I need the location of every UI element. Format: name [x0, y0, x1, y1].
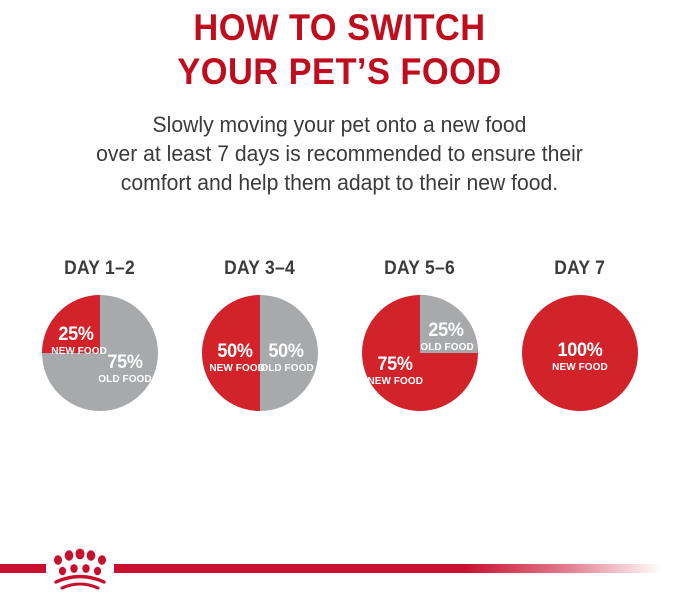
- pie-graphic-3: 25% OLD FOOD 75% NEW FOOD: [362, 295, 478, 411]
- intro-line-2: over at least 7 days is recommended to e…: [20, 139, 658, 168]
- pie-svg-3: [362, 295, 478, 411]
- pie-slice-new-food: [42, 295, 100, 353]
- footer-rule-right: [114, 564, 679, 573]
- royal-canin-crown-icon: [46, 546, 114, 590]
- pie-graphic-4: 100% NEW FOOD: [522, 295, 638, 411]
- pie-graphic-1: 25% NEW FOOD 75% OLD FOOD: [42, 295, 158, 411]
- day-label-1: DAY 1–2: [64, 258, 135, 280]
- pie-chart-day-5-6: DAY 5–6 25% OLD FOOD 75% NEW FOOD: [340, 258, 500, 411]
- intro-line-1: Slowly moving your pet onto a new food: [20, 110, 658, 139]
- pie-slice-new-food: [202, 295, 260, 411]
- pie-chart-row: DAY 1–2 25% NEW FOOD 75% OLD FOOD DAY 3–…: [0, 258, 679, 411]
- pie-chart-day-3-4: DAY 3–4 50% NEW FOOD 50% OLD FOOD: [180, 258, 340, 411]
- day-label-2: DAY 3–4: [224, 258, 295, 280]
- pie-chart-day-1-2: DAY 1–2 25% NEW FOOD 75% OLD FOOD: [20, 258, 180, 411]
- footer: [0, 540, 679, 594]
- pie-svg-2: [202, 295, 318, 411]
- pie-svg-1: [42, 295, 158, 411]
- title-line-1: HOW TO SWITCH: [24, 6, 655, 50]
- pie-chart-day-7: DAY 7 100% NEW FOOD: [500, 258, 660, 411]
- intro-paragraph: Slowly moving your pet onto a new food o…: [0, 110, 679, 197]
- pie-slice-old-food: [420, 295, 478, 353]
- day-label-3: DAY 5–6: [384, 258, 455, 280]
- pie-graphic-2: 50% NEW FOOD 50% OLD FOOD: [202, 295, 318, 411]
- footer-rule-left: [0, 564, 46, 573]
- title-line-2: YOUR PET’S FOOD: [24, 50, 655, 94]
- intro-line-3: comfort and help them adapt to their new…: [20, 168, 658, 197]
- pie-slice-new-food: [522, 295, 638, 411]
- pie-svg-4: [522, 295, 638, 411]
- day-label-4: DAY 7: [554, 258, 605, 280]
- page-title: HOW TO SWITCH YOUR PET’S FOOD: [0, 0, 679, 94]
